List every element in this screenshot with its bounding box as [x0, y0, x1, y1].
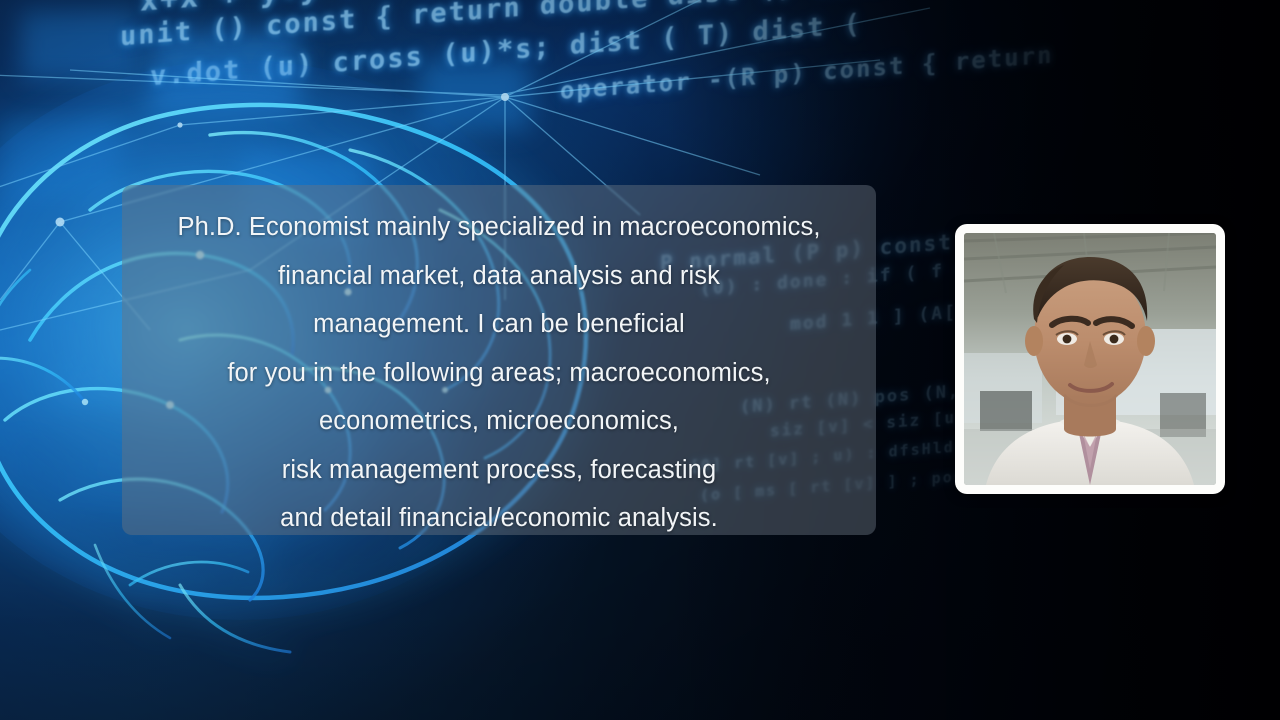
avatar [964, 233, 1216, 485]
lower-third-banner: Atlantic International University Abdulk… [0, 560, 1280, 720]
description-panel: Ph.D. Economist mainly specialized in ma… [122, 185, 876, 535]
description-line: econometrics, microeconomics, [319, 397, 679, 446]
description-line: financial market, data analysis and risk [278, 252, 720, 301]
description-line: and detail financial/economic analysis. [280, 494, 718, 543]
description-line: Ph.D. Economist mainly specialized in ma… [177, 203, 820, 252]
description-line: risk management process, forecasting [282, 446, 716, 495]
portrait-frame [955, 224, 1225, 494]
description-line: management. I can be beneficial [313, 300, 685, 349]
video-frame: x+x + y+y + z*z [ return x*p.x + y*p.y +… [0, 0, 1280, 720]
description-line: for you in the following areas; macroeco… [227, 349, 770, 398]
